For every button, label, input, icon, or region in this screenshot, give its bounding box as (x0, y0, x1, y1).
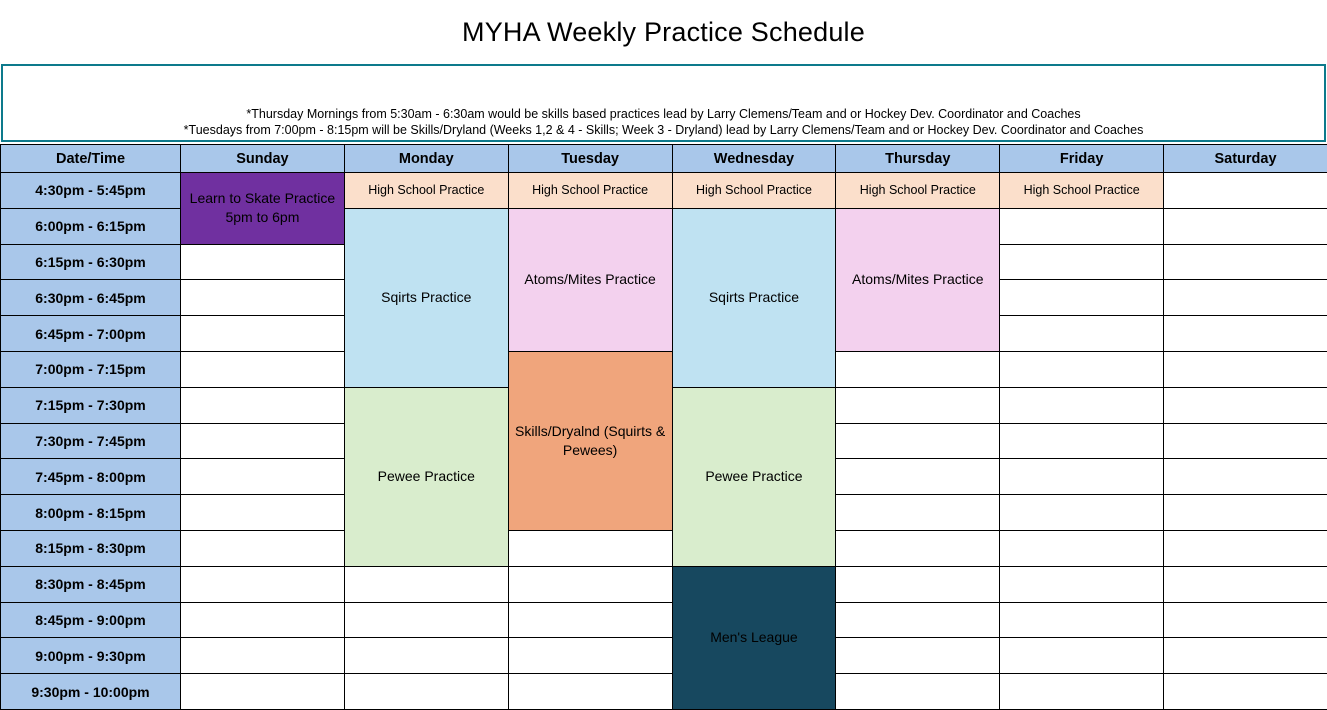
event-learn-to-skate-sunday[interactable]: Learn to Skate Practice 5pm to 6pm (181, 173, 345, 245)
empty-slot-saturday[interactable] (1164, 459, 1327, 495)
empty-slot-friday[interactable] (1000, 387, 1164, 423)
empty-slot-saturday[interactable] (1164, 495, 1327, 531)
empty-slot-friday[interactable] (1000, 602, 1164, 638)
empty-slot-saturday[interactable] (1164, 638, 1327, 674)
column-header-wednesday: Wednesday (672, 145, 836, 173)
empty-slot-monday[interactable] (344, 566, 508, 602)
event-label: Pewee Practice (673, 467, 836, 486)
empty-slot-tuesday[interactable] (508, 566, 672, 602)
event-label: High School Practice (673, 181, 836, 200)
notes-box: *Thursday Mornings from 5:30am - 6:30am … (1, 64, 1326, 142)
empty-slot-saturday[interactable] (1164, 280, 1327, 316)
table-header-row: Date/TimeSundayMondayTuesdayWednesdayThu… (1, 145, 1327, 173)
empty-slot-saturday[interactable] (1164, 602, 1327, 638)
empty-slot-monday[interactable] (344, 638, 508, 674)
empty-slot-saturday[interactable] (1164, 244, 1327, 280)
event-label: High School Practice (345, 181, 508, 200)
empty-slot-saturday[interactable] (1164, 208, 1327, 244)
column-header-friday: Friday (1000, 145, 1164, 173)
event-label: High School Practice (1000, 181, 1163, 200)
empty-slot-thursday[interactable] (836, 423, 1000, 459)
event-label: Skills/Dryalnd (Squirts & Pewees) (509, 422, 672, 460)
table-row: 9:00pm - 9:30pm (1, 638, 1327, 674)
event-label: High School Practice (836, 181, 999, 200)
empty-slot-sunday[interactable] (181, 674, 345, 710)
empty-slot-thursday[interactable] (836, 530, 1000, 566)
event-atoms-mites-thursday[interactable]: Atoms/Mites Practice (836, 208, 1000, 351)
table-row: 8:15pm - 8:30pm (1, 530, 1327, 566)
table-row: 7:00pm - 7:15pmSkills/Dryalnd (Squirts &… (1, 351, 1327, 387)
event-high-school-wednesday[interactable]: High School Practice (672, 173, 836, 209)
event-label: Sqirts Practice (673, 288, 836, 307)
event-label: Pewee Practice (345, 467, 508, 486)
time-slot-label: 6:15pm - 6:30pm (1, 244, 181, 280)
empty-slot-sunday[interactable] (181, 387, 345, 423)
empty-slot-saturday[interactable] (1164, 423, 1327, 459)
empty-slot-friday[interactable] (1000, 495, 1164, 531)
empty-slot-saturday[interactable] (1164, 316, 1327, 352)
empty-slot-friday[interactable] (1000, 280, 1164, 316)
event-high-school-friday[interactable]: High School Practice (1000, 173, 1164, 209)
empty-slot-saturday[interactable] (1164, 173, 1327, 209)
time-slot-label: 6:00pm - 6:15pm (1, 208, 181, 244)
empty-slot-friday[interactable] (1000, 316, 1164, 352)
column-header-saturday: Saturday (1164, 145, 1327, 173)
event-pewee-monday[interactable]: Pewee Practice (344, 387, 508, 566)
empty-slot-friday[interactable] (1000, 638, 1164, 674)
column-header-sunday: Sunday (181, 145, 345, 173)
event-mens-league-wednesday[interactable]: Men's League (672, 566, 836, 709)
column-header-monday: Monday (344, 145, 508, 173)
empty-slot-friday[interactable] (1000, 351, 1164, 387)
time-slot-label: 7:15pm - 7:30pm (1, 387, 181, 423)
empty-slot-thursday[interactable] (836, 602, 1000, 638)
time-slot-label: 9:00pm - 9:30pm (1, 638, 181, 674)
event-squirts-monday[interactable]: Sqirts Practice (344, 208, 508, 387)
event-label: Learn to Skate Practice 5pm to 6pm (181, 189, 344, 227)
empty-slot-friday[interactable] (1000, 674, 1164, 710)
event-skills-dryland-tuesday[interactable]: Skills/Dryalnd (Squirts & Pewees) (508, 351, 672, 530)
empty-slot-sunday[interactable] (181, 495, 345, 531)
empty-slot-sunday[interactable] (181, 566, 345, 602)
event-label: Men's League (673, 628, 836, 647)
time-slot-label: 8:00pm - 8:15pm (1, 495, 181, 531)
event-high-school-tuesday[interactable]: High School Practice (508, 173, 672, 209)
empty-slot-friday[interactable] (1000, 459, 1164, 495)
time-slot-label: 8:15pm - 8:30pm (1, 530, 181, 566)
column-header-date-time: Date/Time (1, 145, 181, 173)
column-header-tuesday: Tuesday (508, 145, 672, 173)
empty-slot-tuesday[interactable] (508, 674, 672, 710)
empty-slot-saturday[interactable] (1164, 530, 1327, 566)
empty-slot-saturday[interactable] (1164, 674, 1327, 710)
empty-slot-thursday[interactable] (836, 351, 1000, 387)
event-atoms-mites-tuesday[interactable]: Atoms/Mites Practice (508, 208, 672, 351)
empty-slot-saturday[interactable] (1164, 351, 1327, 387)
empty-slot-sunday[interactable] (181, 244, 345, 280)
time-slot-label: 7:45pm - 8:00pm (1, 459, 181, 495)
empty-slot-sunday[interactable] (181, 459, 345, 495)
event-label: Sqirts Practice (345, 288, 508, 307)
event-squirts-wednesday[interactable]: Sqirts Practice (672, 208, 836, 387)
empty-slot-sunday[interactable] (181, 316, 345, 352)
weekly-schedule-table: Date/TimeSundayMondayTuesdayWednesdayThu… (0, 144, 1327, 710)
time-slot-label: 6:45pm - 7:00pm (1, 316, 181, 352)
empty-slot-thursday[interactable] (836, 566, 1000, 602)
empty-slot-tuesday[interactable] (508, 638, 672, 674)
table-row: 4:30pm - 5:45pmLearn to Skate Practice 5… (1, 173, 1327, 209)
empty-slot-friday[interactable] (1000, 244, 1164, 280)
table-row: 9:30pm - 10:00pm (1, 674, 1327, 710)
empty-slot-friday[interactable] (1000, 423, 1164, 459)
time-slot-label: 8:45pm - 9:00pm (1, 602, 181, 638)
empty-slot-sunday[interactable] (181, 530, 345, 566)
time-slot-label: 8:30pm - 8:45pm (1, 566, 181, 602)
empty-slot-friday[interactable] (1000, 566, 1164, 602)
empty-slot-thursday[interactable] (836, 674, 1000, 710)
empty-slot-saturday[interactable] (1164, 566, 1327, 602)
event-high-school-monday[interactable]: High School Practice (344, 173, 508, 209)
empty-slot-thursday[interactable] (836, 638, 1000, 674)
table-body: 4:30pm - 5:45pmLearn to Skate Practice 5… (1, 173, 1327, 710)
empty-slot-sunday[interactable] (181, 602, 345, 638)
time-slot-label: 7:00pm - 7:15pm (1, 351, 181, 387)
time-slot-label: 6:30pm - 6:45pm (1, 280, 181, 316)
table-row: 8:30pm - 8:45pmMen's League (1, 566, 1327, 602)
empty-slot-sunday[interactable] (181, 638, 345, 674)
empty-slot-tuesday[interactable] (508, 602, 672, 638)
empty-slot-thursday[interactable] (836, 387, 1000, 423)
event-label: High School Practice (509, 181, 672, 200)
empty-slot-thursday[interactable] (836, 459, 1000, 495)
empty-slot-monday[interactable] (344, 602, 508, 638)
empty-slot-tuesday[interactable] (508, 530, 672, 566)
table-row: 8:45pm - 9:00pm (1, 602, 1327, 638)
empty-slot-friday[interactable] (1000, 530, 1164, 566)
event-label: Atoms/Mites Practice (509, 270, 672, 289)
empty-slot-sunday[interactable] (181, 351, 345, 387)
empty-slot-sunday[interactable] (181, 280, 345, 316)
column-header-thursday: Thursday (836, 145, 1000, 173)
empty-slot-monday[interactable] (344, 674, 508, 710)
note-line-2: *Tuesdays from 7:00pm - 8:15pm will be S… (184, 122, 1144, 138)
title-bar: MYHA Weekly Practice Schedule (0, 0, 1327, 64)
empty-slot-friday[interactable] (1000, 208, 1164, 244)
event-high-school-thursday[interactable]: High School Practice (836, 173, 1000, 209)
note-line-1: *Thursday Mornings from 5:30am - 6:30am … (246, 106, 1080, 122)
page-title: MYHA Weekly Practice Schedule (462, 17, 865, 48)
empty-slot-saturday[interactable] (1164, 387, 1327, 423)
empty-slot-sunday[interactable] (181, 423, 345, 459)
schedule-page: MYHA Weekly Practice Schedule *Thursday … (0, 0, 1327, 707)
time-slot-label: 4:30pm - 5:45pm (1, 173, 181, 209)
event-label: Atoms/Mites Practice (836, 270, 999, 289)
event-pewee-wednesday[interactable]: Pewee Practice (672, 387, 836, 566)
empty-slot-thursday[interactable] (836, 495, 1000, 531)
time-slot-label: 7:30pm - 7:45pm (1, 423, 181, 459)
time-slot-label: 9:30pm - 10:00pm (1, 674, 181, 710)
